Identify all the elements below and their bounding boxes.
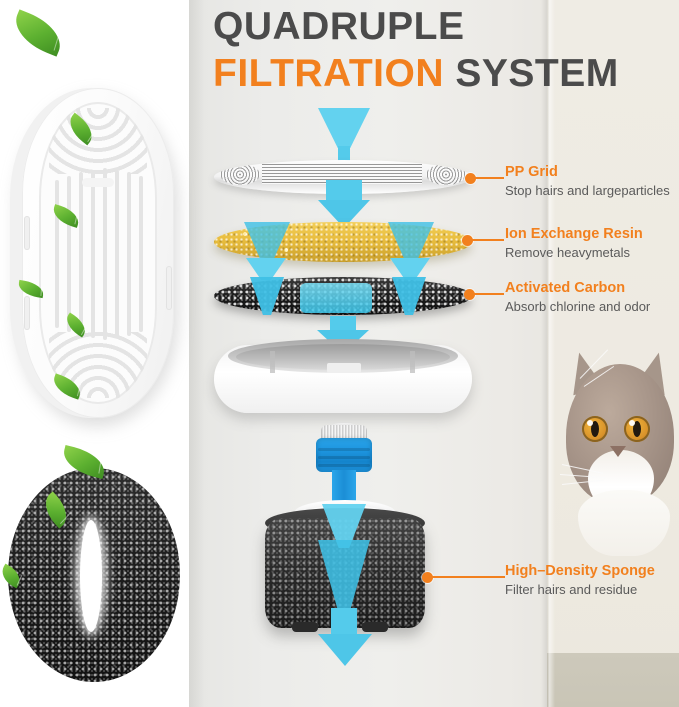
pump-foot	[362, 622, 388, 632]
grid-slat	[127, 172, 131, 336]
cat-photo	[556, 338, 678, 556]
water-flow-arrow-icon	[326, 180, 362, 202]
panel-seam-divider	[541, 0, 555, 707]
headline-block: QUADRUPLE FILTRATION SYSTEM	[213, 4, 673, 98]
callout-subtitle: Absorb chlorine and odor	[505, 299, 650, 315]
callout-title: PP Grid	[505, 164, 670, 180]
center-panel-shadow	[189, 0, 205, 707]
headline-accent-word: FILTRATION	[213, 52, 444, 95]
callout-pp-grid[interactable]: PP Grid Stop hairs and largeparticles	[505, 164, 670, 199]
water-flow-arrow-icon	[300, 283, 372, 313]
infographic-canvas: QUADRUPLE FILTRATION SYSTEM	[0, 0, 679, 707]
tray-rib	[410, 351, 415, 373]
callout-subtitle: Remove heavymetals	[505, 245, 643, 261]
grid-slat	[79, 172, 83, 336]
grid-plate-arc-top	[49, 108, 147, 174]
pp-grid-arc-left	[220, 164, 260, 185]
callout-subtitle: Stop hairs and largeparticles	[505, 183, 670, 199]
sponge-center-hole	[80, 520, 102, 632]
cat-eye-right	[624, 416, 650, 442]
grid-plate-tab	[24, 296, 30, 330]
pump-ridge	[318, 456, 370, 459]
water-flow-arrow-icon	[331, 608, 357, 636]
callout-high-density-sponge[interactable]: High–Density Sponge Filter hairs and res…	[505, 563, 655, 598]
grid-slat	[103, 168, 107, 340]
grid-slat	[115, 170, 119, 338]
cat-chin	[578, 490, 670, 556]
callout-subtitle: Filter hairs and residue	[505, 582, 655, 598]
grid-slat	[139, 176, 143, 332]
headline-line-2: FILTRATION SYSTEM	[213, 50, 673, 98]
callout-title: Activated Carbon	[505, 280, 650, 296]
callout-title: High–Density Sponge	[505, 563, 655, 579]
grid-slat	[55, 180, 59, 328]
callout-leader-pp-grid	[474, 177, 504, 179]
right-panel-floor	[547, 653, 679, 707]
headline-plain-word: SYSTEM	[455, 52, 618, 95]
cat-eye-glint	[629, 420, 635, 426]
callout-leader-activated-carbon	[473, 293, 504, 295]
callout-leader-ion-resin	[471, 239, 504, 241]
grid-slat	[91, 170, 95, 338]
tray-notch	[327, 363, 361, 373]
callout-title: Ion Exchange Resin	[505, 226, 643, 242]
foam-sponge-photo	[8, 468, 180, 682]
filter-tray	[214, 337, 472, 415]
tray-rib	[270, 351, 275, 373]
pp-grid-arc-right	[426, 164, 466, 185]
grid-plate-photo	[22, 88, 174, 418]
water-flow-arrow-icon	[318, 634, 372, 666]
grid-plate-tab	[24, 216, 30, 250]
headline-line-1: QUADRUPLE	[213, 4, 673, 50]
pump-ridge	[318, 448, 370, 451]
grid-slat	[67, 176, 71, 332]
pump-foot	[292, 622, 318, 632]
grid-plate-tab	[166, 266, 172, 310]
pump-ridge	[318, 464, 370, 467]
callout-ion-exchange-resin[interactable]: Ion Exchange Resin Remove heavymetals	[505, 226, 643, 261]
grid-plate-notch	[82, 178, 114, 187]
callout-leader-high-density-sponge	[431, 576, 505, 578]
grid-plate-inner	[39, 102, 157, 404]
callout-activated-carbon[interactable]: Activated Carbon Absorb chlorine and odo…	[505, 280, 650, 315]
cat-eye-glint	[587, 420, 593, 426]
cat-eye-left	[582, 416, 608, 442]
